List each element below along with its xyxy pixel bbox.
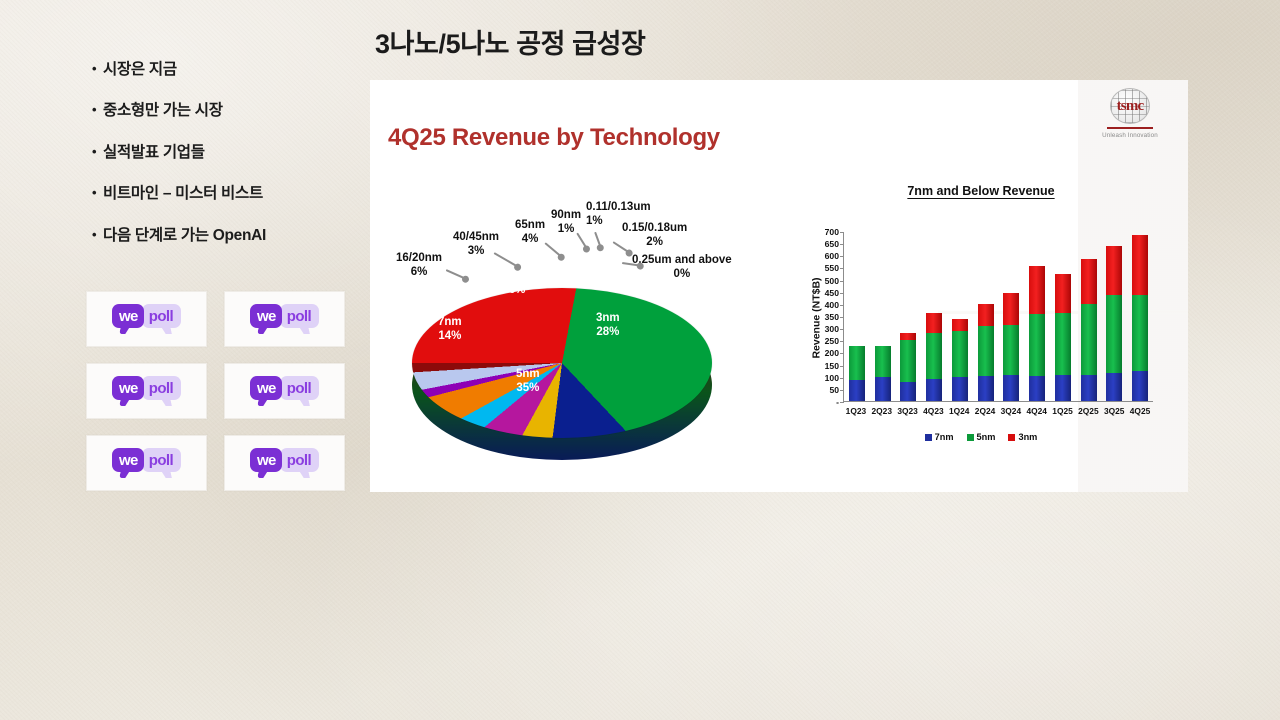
bar-segment-7nm [875,377,891,401]
y-axis-tick-label: 600 [825,251,839,261]
bar-series-container [844,232,1153,401]
pie-label-7nm: 7nm 14% [438,316,462,343]
bar-segment-5nm [1003,325,1019,375]
bar-segment-7nm [978,376,994,401]
y-axis-tick-label: 400 [825,300,839,310]
bar-segment-5nm [1055,313,1071,374]
bar-segment-5nm [1081,304,1097,374]
x-axis-tick-label: 3Q25 [1101,406,1127,416]
legend-swatch [925,434,932,441]
bar-column[interactable] [875,346,891,401]
bar-chart: 7nm and Below Revenue Revenue (NT$B) 700… [785,184,1177,479]
y-axis-tick-label: 300 [825,324,839,334]
x-axis-tick-label: 3Q24 [998,406,1024,416]
wepoll-logo: we poll [112,448,181,478]
bar-column[interactable] [1029,266,1045,401]
bar-segment-5nm [875,346,891,377]
bar-chart-title: 7nm and Below Revenue [785,184,1177,198]
y-axis-tick-label: 100 [825,373,839,383]
bullet-text: 비트마인 – 미스터 비스트 [103,184,263,203]
bullet-list: • 시장은 지금 • 중소형만 가는 시장 • 실적발표 기업들 • 비트마인 … [92,60,392,267]
bar-segment-5nm [1029,314,1045,375]
bullet-text: 시장은 지금 [103,60,177,79]
bar-segment-3nm [1106,246,1122,295]
x-axis-tick-label: 2Q25 [1075,406,1101,416]
bar-segment-3nm [1029,266,1045,314]
y-axis-tick-label: 50 [829,385,839,395]
list-item: • 다음 단계로 가는 OpenAI [92,226,392,245]
tsmc-wordmark: tsmc [1106,98,1154,115]
bar-column[interactable] [1081,259,1097,401]
legend-label: 5nm [977,432,996,442]
y-axis-tick-label: 450 [825,288,839,298]
x-axis-tick-label: 1Q25 [1050,406,1076,416]
bar-segment-7nm [1029,376,1045,402]
y-axis-tick-label: 550 [825,263,839,273]
wepoll-logo: we poll [250,376,319,406]
y-axis-tick-label: 350 [825,312,839,322]
bar-segment-5nm [849,346,865,380]
wepoll-poll-bubble: poll [280,448,319,472]
pie-label-28nm: 28nm 6% [502,270,532,297]
wepoll-poll-bubble: poll [280,304,319,328]
bar-segment-3nm [952,319,968,330]
legend-item-7nm[interactable]: 7nm [925,432,954,442]
bar-segment-7nm [926,379,942,401]
tsmc-rule [1107,127,1153,129]
wepoll-we-bubble: we [112,448,144,472]
pie-label-40-45nm: 40/45nm 3% [453,231,499,258]
bar-segment-7nm [1081,375,1097,401]
bar-segment-5nm [1132,295,1148,371]
bullet-marker: • [92,143,102,161]
pie-label-3nm: 3nm 28% [596,312,620,339]
y-axis-tick-label: 250 [825,336,839,346]
pie-chart-title: 4Q25 Revenue by Technology [388,124,720,152]
wepoll-we-bubble: we [112,376,144,400]
wepoll-poll-bubble: poll [280,376,319,400]
wepoll-card[interactable]: we poll [86,435,207,491]
legend-swatch [967,434,974,441]
bar-segment-3nm [1003,293,1019,325]
x-axis-ticks: 1Q232Q233Q234Q231Q242Q243Q244Q241Q252Q25… [843,406,1153,416]
bar-column[interactable] [952,319,968,401]
legend-item-3nm[interactable]: 3nm [1008,432,1037,442]
legend-label: 3nm [1018,432,1037,442]
wepoll-logo: we poll [250,304,319,334]
bar-segment-7nm [1106,373,1122,401]
wepoll-poll-bubble: poll [142,376,181,400]
bar-column[interactable] [1003,293,1019,401]
list-item: • 비트마인 – 미스터 비스트 [92,184,392,203]
wepoll-logo: we poll [250,448,319,478]
y-axis-tick-mark [840,402,844,403]
x-axis-tick-label: 2Q23 [869,406,895,416]
bar-segment-5nm [952,331,968,377]
wepoll-logo: we poll [112,376,181,406]
bar-segment-7nm [1055,375,1071,401]
bar-segment-5nm [978,326,994,376]
y-axis-tick-label: 200 [825,348,839,358]
bar-segment-3nm [1055,274,1071,313]
x-axis-tick-label: 2Q24 [972,406,998,416]
wepoll-we-bubble: we [250,376,282,400]
wepoll-card[interactable]: we poll [86,363,207,419]
pie-label-015-018um: 0.15/0.18um 2% [622,222,687,249]
bullet-marker: • [92,226,102,244]
bar-segment-3nm [1132,235,1148,296]
y-axis-tick-label: 150 [825,361,839,371]
leader-line [594,232,602,249]
legend-label: 7nm [935,432,954,442]
wepoll-we-bubble: we [250,448,282,472]
wepoll-card[interactable]: we poll [224,435,345,491]
bullet-text: 중소형만 가는 시장 [103,101,223,120]
pie-label-025um-above: 0.25um and above 0% [632,254,732,281]
bar-segment-7nm [849,380,865,401]
list-item: • 시장은 지금 [92,60,392,79]
x-axis-tick-label: 3Q23 [895,406,921,416]
leader-line [576,233,588,250]
tsmc-globe-icon: tsmc [1106,86,1154,126]
pie-disc [412,288,712,438]
wepoll-poll-bubble: poll [142,448,181,472]
page-title: 3나노/5나노 공정 급성장 [375,22,1095,61]
wepoll-card[interactable]: we poll [224,363,345,419]
bar-segment-3nm [900,333,916,340]
bar-chart-y-axis-label: Revenue (NT$B) [811,277,823,358]
wepoll-we-bubble: we [112,304,144,328]
bar-segment-5nm [900,340,916,382]
wepoll-poll-bubble: poll [142,304,181,328]
legend-item-5nm[interactable]: 5nm [967,432,996,442]
y-axis-tick-label: 700 [825,227,839,237]
bar-column[interactable] [849,346,865,401]
bar-column[interactable] [1055,274,1071,401]
bar-segment-7nm [1003,375,1019,401]
bar-column[interactable] [1106,246,1122,401]
bullet-marker: • [92,184,102,202]
y-axis-tick-label: 650 [825,239,839,249]
wepoll-card[interactable]: we poll [224,291,345,347]
leader-line [493,252,518,268]
bar-segment-3nm [1081,259,1097,304]
pie-label-16-20nm: 16/20nm 6% [396,252,442,279]
y-axis-tick-label: 500 [825,276,839,286]
bar-segment-3nm [978,304,994,326]
bar-segment-7nm [952,377,968,401]
legend-swatch [1008,434,1015,441]
y-axis-tick-label: - [836,397,839,407]
bullet-text: 실적발표 기업들 [103,143,205,162]
wepoll-card-grid: we poll we poll we poll we poll we poll … [86,291,345,491]
bar-segment-3nm [926,313,942,333]
bar-segment-7nm [900,382,916,401]
bullet-marker: • [92,101,102,119]
pie-label-65nm: 65nm 4% [515,219,545,246]
bar-chart-legend: 7nm5nm3nm [785,432,1177,442]
x-axis-tick-label: 4Q23 [920,406,946,416]
list-item: • 중소형만 가는 시장 [92,101,392,120]
bar-segment-7nm [1132,371,1148,401]
pie-label-5nm: 5nm 35% [516,368,540,395]
x-axis-tick-label: 1Q24 [946,406,972,416]
bar-column[interactable] [926,313,942,401]
pie-chart: 16/20nm 6% 40/45nm 3% 65nm 4% 90nm 1% 0.… [390,190,780,480]
bar-column[interactable] [1132,235,1148,401]
leader-line [544,242,562,258]
list-item: • 실적발표 기업들 [92,143,392,162]
bullet-text: 다음 단계로 가는 OpenAI [103,226,266,245]
tsmc-logo: tsmc Unleash Innovation [1084,86,1176,139]
wepoll-card[interactable]: we poll [86,291,207,347]
bar-column[interactable] [900,333,916,401]
bullet-marker: • [92,60,102,78]
x-axis-tick-label: 4Q25 [1127,406,1153,416]
pie-graphic [412,288,712,448]
bar-segment-5nm [1106,295,1122,373]
tsmc-tagline: Unleash Innovation [1084,132,1176,139]
bar-column[interactable] [978,304,994,401]
wepoll-logo: we poll [112,304,181,334]
x-axis-tick-label: 1Q23 [843,406,869,416]
slide-image-panel: tsmc Unleash Innovation 4Q25 Revenue by … [370,80,1188,492]
bar-plot-area: 7006506005505004504003503002502001501005… [843,232,1153,402]
bar-segment-5nm [926,333,942,378]
x-axis-tick-label: 4Q24 [1024,406,1050,416]
leader-line [446,269,467,280]
wepoll-we-bubble: we [250,304,282,328]
